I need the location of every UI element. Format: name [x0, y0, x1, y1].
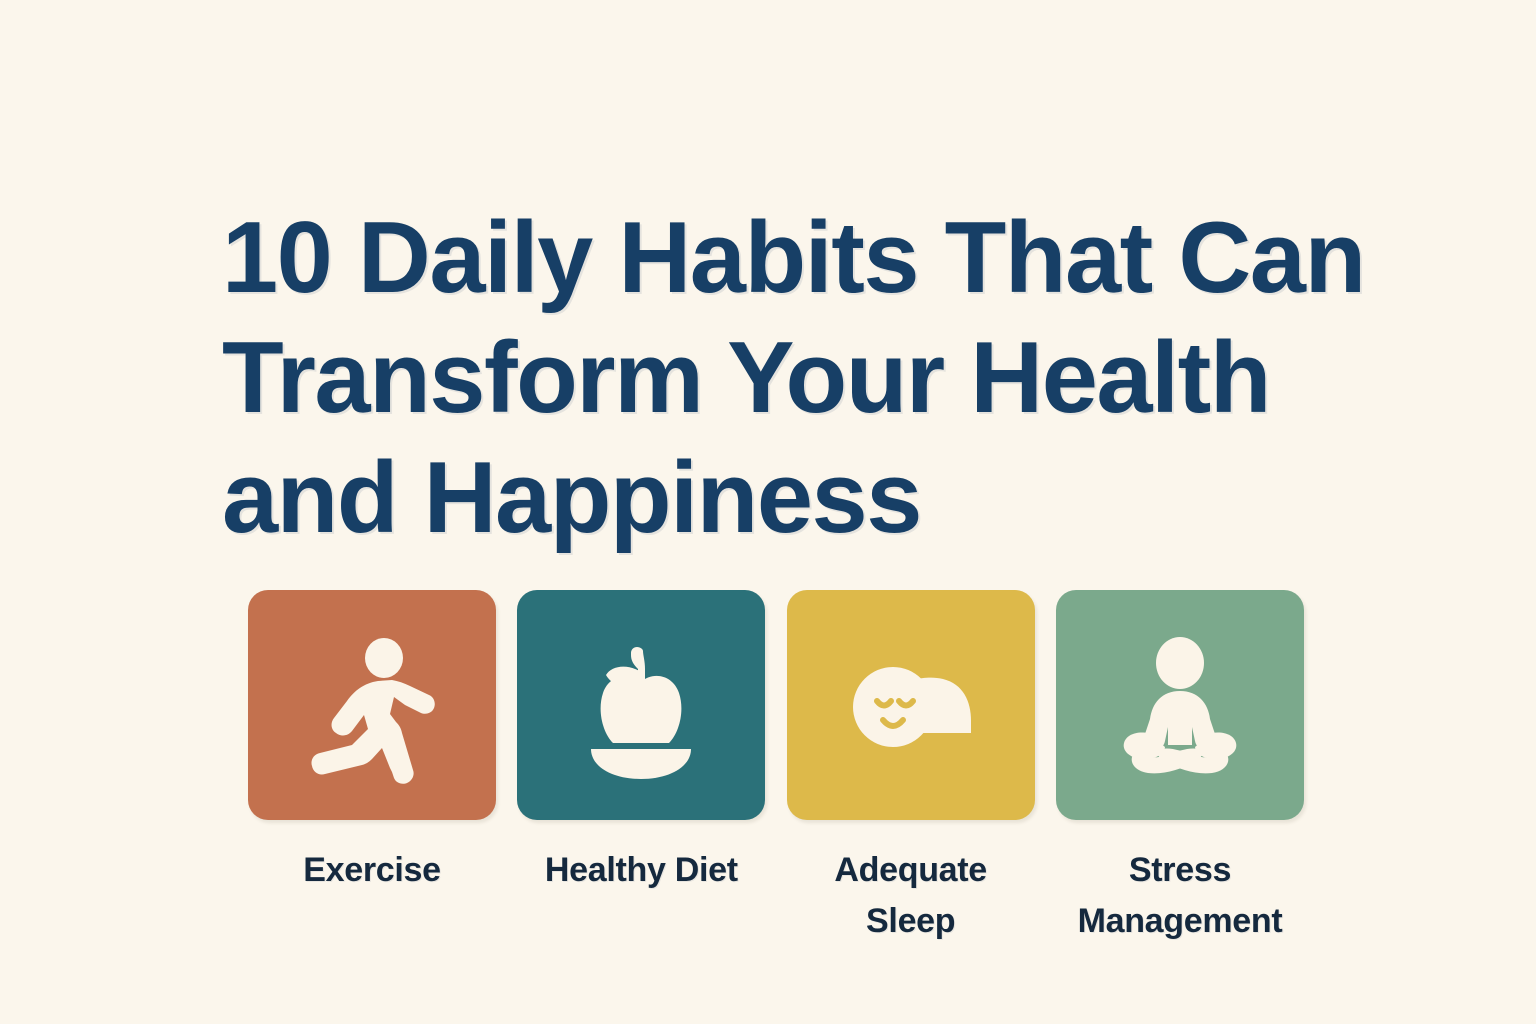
healthy-diet-icon-tile[interactable] — [517, 590, 765, 820]
habit-card-healthy-diet[interactable]: Healthy Diet — [517, 590, 765, 947]
habit-card-exercise[interactable]: Exercise — [248, 590, 496, 947]
meditating-person-icon — [1100, 625, 1260, 785]
apple-on-bowl-icon — [561, 625, 721, 785]
habit-card-label-adequate-sleep: Adequate Sleep — [787, 845, 1035, 947]
habit-card-row: Exercise Healthy Diet — [248, 590, 1304, 947]
running-person-icon — [292, 625, 452, 785]
habit-card-stress-management[interactable]: Stress Management — [1056, 590, 1304, 947]
page-title-line-3: and Happiness — [222, 438, 1352, 558]
habit-card-label-stress-management: Stress Management — [1056, 845, 1304, 947]
poster-canvas: 10 Daily Habits That Can Transform Your … — [0, 0, 1536, 1024]
adequate-sleep-icon-tile[interactable] — [787, 590, 1035, 820]
habit-card-adequate-sleep[interactable]: Adequate Sleep — [787, 590, 1035, 947]
stress-management-icon-tile[interactable] — [1056, 590, 1304, 820]
page-title-line-1: 10 Daily Habits That Can — [222, 198, 1352, 318]
habit-card-label-healthy-diet: Healthy Diet — [545, 845, 738, 896]
sleeping-face-pillow-icon — [831, 625, 991, 785]
page-title: 10 Daily Habits That Can Transform Your … — [222, 198, 1352, 558]
exercise-icon-tile[interactable] — [248, 590, 496, 820]
habit-card-label-exercise: Exercise — [303, 845, 441, 896]
page-title-line-2: Transform Your Health — [222, 318, 1352, 438]
